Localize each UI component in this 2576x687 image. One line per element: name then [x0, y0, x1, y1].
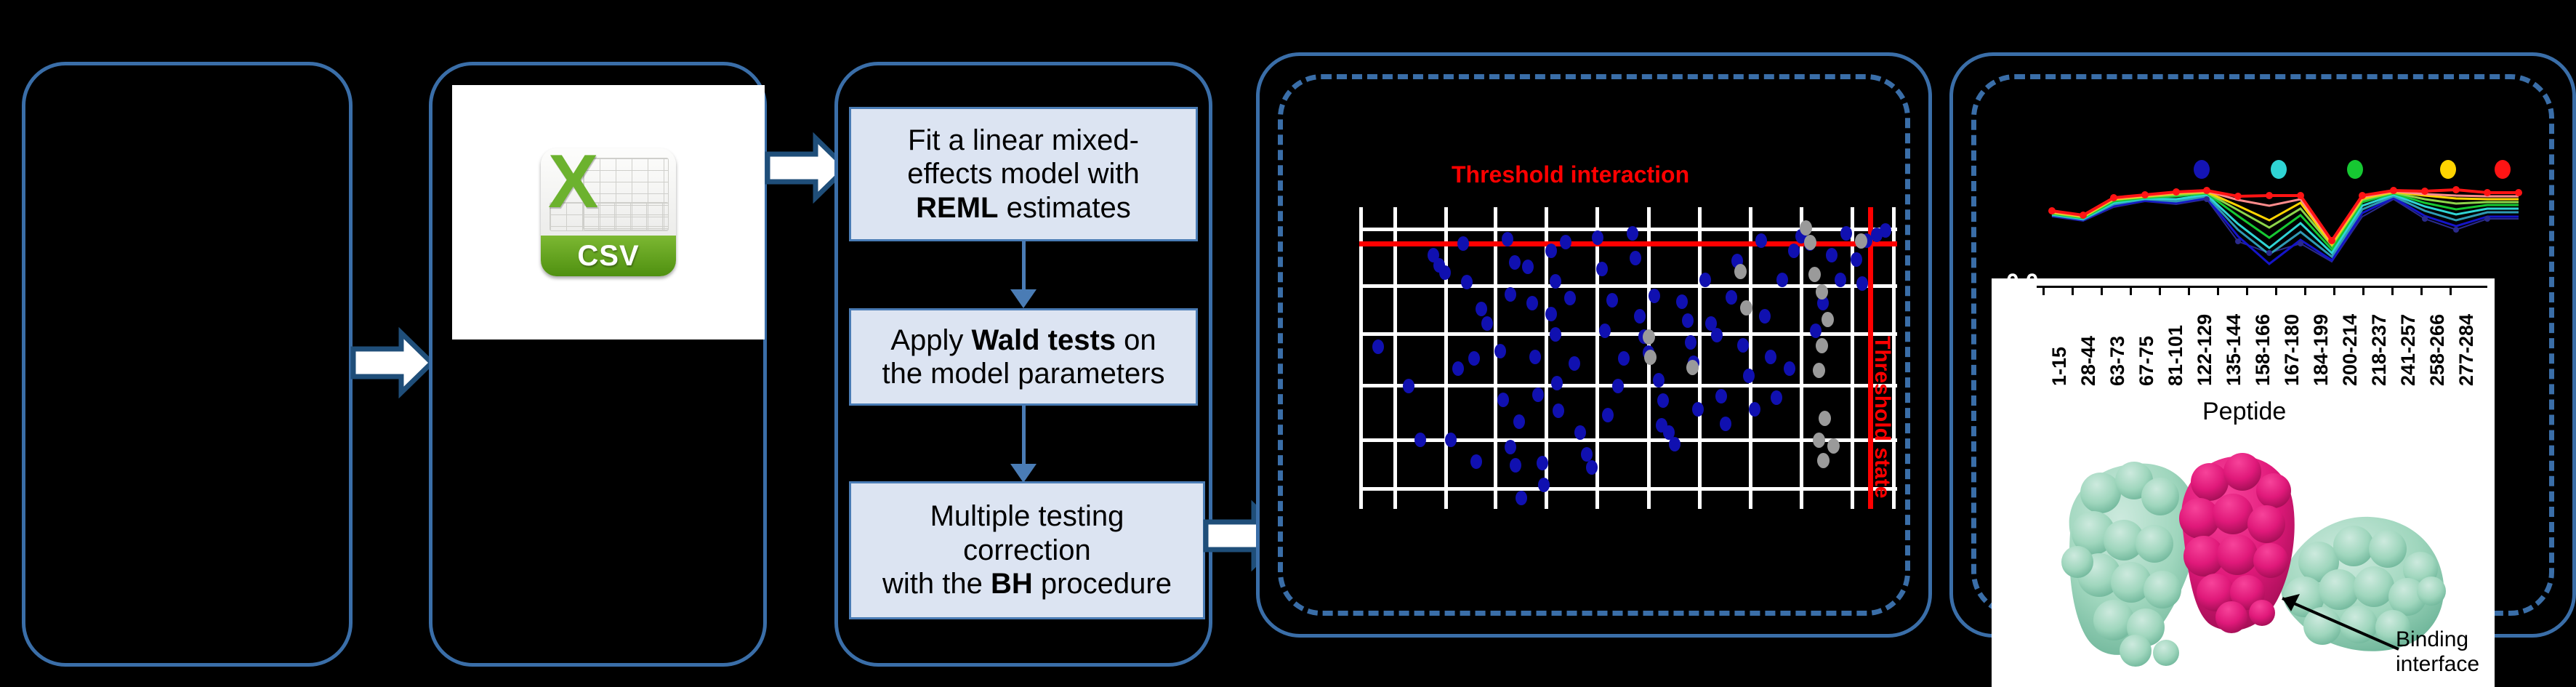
gridline-v — [1749, 207, 1752, 509]
scatter-point — [1720, 417, 1731, 431]
scatter-point — [1586, 460, 1598, 475]
gridline-v — [1444, 207, 1448, 509]
scatter-point-ns — [1816, 338, 1828, 353]
peptide-tick-label: 28-44 — [2077, 336, 2100, 386]
bh-line3-pre: with the — [882, 568, 991, 600]
scatter-point — [1788, 244, 1800, 258]
scatter-point-ns — [1827, 438, 1840, 454]
scatter-point-ns — [1644, 350, 1657, 365]
connector-1 — [1022, 241, 1026, 294]
scatter-point — [1516, 491, 1527, 505]
bh-line2: correction — [963, 534, 1091, 566]
scatter-point-ns — [1819, 411, 1831, 426]
scatter-point — [1468, 351, 1480, 366]
scatter-point — [1685, 335, 1696, 350]
scatter-point — [1606, 293, 1618, 308]
peptide-tick — [2275, 286, 2277, 295]
arrow-input-to-csv — [350, 327, 435, 398]
scatter-point — [1851, 252, 1862, 267]
gridline-v — [1800, 207, 1803, 509]
peptide-tick — [2042, 286, 2045, 295]
scatter-point — [1776, 273, 1788, 287]
protein-surface-render: Peptide — [1992, 395, 2495, 687]
scatter-point — [1550, 327, 1561, 342]
gridline-v — [1698, 207, 1702, 509]
binding-interface-label: Binding interface — [2396, 627, 2479, 676]
peptide-tick — [2362, 286, 2364, 295]
scatter-point — [1699, 273, 1711, 287]
scatter-point — [1538, 478, 1550, 492]
scatter-point — [1657, 393, 1669, 408]
scatter-point — [1784, 361, 1795, 376]
scatter-point — [1497, 393, 1509, 407]
fit-model-line3-rest: estimates — [999, 192, 1131, 224]
fit-model-line2: effects model with — [907, 158, 1139, 190]
peptide-tick — [2420, 286, 2423, 295]
scatter-point-ns — [1816, 284, 1828, 300]
scatter-point — [1737, 338, 1749, 353]
scatter-point — [1765, 350, 1776, 364]
peptide-tick-label: 63-73 — [2106, 336, 2129, 386]
peptide-tick-label: 258-266 — [2426, 314, 2449, 386]
bh-bold: BH — [991, 568, 1033, 600]
scatter-point — [1771, 390, 1782, 405]
scatter-point-ns — [1813, 433, 1825, 448]
input-panel — [22, 62, 353, 667]
scatter-point — [1835, 273, 1846, 287]
bh-line3-post: procedure — [1033, 568, 1172, 600]
step-box-fit-model[interactable]: Fit a linear mixed- effects model with R… — [849, 107, 1198, 241]
peptide-tick — [2159, 286, 2161, 295]
threshold-state-label: Threshold state — [1869, 336, 1894, 498]
scatter-point-ns — [1855, 233, 1867, 249]
scatter-point — [1711, 328, 1723, 342]
volcano-scatter-plot — [1359, 207, 1897, 509]
connector-1-head — [1010, 289, 1037, 308]
fit-model-reml: REML — [916, 192, 998, 224]
scatter-point — [1439, 265, 1451, 280]
legend-marker-4 — [2440, 160, 2456, 179]
binding-interface-line1: Binding — [2396, 627, 2479, 652]
scatter-point-ns — [1740, 300, 1752, 316]
scatter-point — [1612, 379, 1624, 393]
scatter-point — [1596, 262, 1608, 276]
peptide-tick-label: 1-15 — [2048, 347, 2071, 386]
scatter-point — [1545, 307, 1557, 321]
scatter-point — [1692, 402, 1704, 417]
csv-label-band: CSV — [541, 236, 676, 276]
scatter-point-ns — [1822, 312, 1834, 327]
threshold-interaction-line — [1359, 241, 1897, 246]
scatter-point — [1481, 316, 1493, 331]
scatter-point — [1372, 340, 1384, 354]
scatter-point — [1551, 376, 1563, 390]
scatter-point — [1545, 244, 1557, 258]
scatter-point — [1810, 324, 1822, 338]
scatter-point-ns — [1800, 220, 1812, 236]
gridline-h — [1359, 384, 1897, 387]
peptide-tick — [2130, 286, 2132, 295]
scatter-point — [1840, 226, 1852, 241]
peptide-tick — [2450, 286, 2452, 295]
scatter-point-ns — [1686, 360, 1699, 375]
gridline-v — [1359, 207, 1363, 509]
scatter-point — [1509, 255, 1521, 270]
scatter-point — [1529, 350, 1541, 364]
scatter-point — [1550, 274, 1561, 289]
scatter-point — [1505, 440, 1516, 454]
peptide-tick — [2304, 286, 2306, 295]
scatter-point — [1649, 289, 1660, 303]
scatter-point-ns — [1643, 329, 1655, 345]
legend-marker-1 — [2194, 160, 2210, 179]
scatter-point — [1653, 373, 1665, 387]
peptide-tick-label: 277-284 — [2455, 314, 2478, 386]
wald-line1-pre: Apply — [890, 324, 971, 356]
scatter-point — [1630, 251, 1641, 265]
scatter-point — [1749, 402, 1760, 417]
scatter-point — [1634, 309, 1646, 324]
bh-line1: Multiple testing — [930, 500, 1124, 532]
scatter-grid — [1359, 207, 1897, 509]
peptide-tick — [2246, 286, 2248, 295]
wald-line2: the model parameters — [882, 358, 1164, 390]
legend-marker-3 — [2347, 160, 2363, 179]
peptide-tick — [2391, 286, 2394, 295]
peptide-tick — [2072, 286, 2074, 295]
wald-bold: Wald tests — [972, 324, 1116, 356]
scatter-point — [1452, 361, 1464, 376]
legend-marker-5 — [2495, 160, 2511, 179]
scatter-point-ns — [1808, 267, 1821, 282]
scatter-point-ns — [1804, 235, 1816, 250]
legend-marker-2 — [2271, 160, 2287, 179]
scatter-point — [1532, 387, 1544, 402]
peptide-tick — [2101, 286, 2103, 295]
scatter-point — [1743, 369, 1755, 383]
scatter-point — [1592, 230, 1603, 245]
peptide-ligand — [2179, 453, 2295, 633]
scatter-point — [1522, 260, 1534, 274]
scatter-point — [1618, 351, 1630, 366]
peptide-axis-card: 1-15 28-44 63-73 67-75 81-101 122-129 13… — [1992, 278, 2495, 395]
scatter-point — [1669, 437, 1681, 451]
csv-label-text: CSV — [577, 240, 639, 273]
peptide-tick-label: 200-214 — [2339, 314, 2362, 386]
scatter-point — [1502, 232, 1513, 246]
peptide-chart-svg — [2048, 178, 2528, 280]
csv-file-icon: X CSV — [541, 148, 676, 276]
scatter-point — [1581, 447, 1593, 462]
scatter-point — [1880, 223, 1891, 238]
scatter-point — [1569, 356, 1580, 371]
peptide-tick — [2217, 286, 2219, 295]
peptide-tick-label: 184-199 — [2310, 314, 2333, 386]
scatter-point — [1602, 408, 1614, 422]
scatter-point — [1526, 296, 1538, 310]
peptide-tick-label: 167-180 — [2281, 314, 2303, 386]
diagram-canvas: X CSV Fit a linear mixed- effects model … — [0, 0, 2576, 687]
connector-2-head — [1010, 464, 1037, 483]
scatter-point — [1726, 290, 1737, 305]
scatter-point — [1715, 389, 1727, 403]
fit-model-line1: Fit a linear mixed- — [908, 124, 1139, 156]
scatter-point-ns — [1734, 264, 1747, 279]
peptide-tick-label: 218-237 — [2368, 314, 2391, 386]
excel-x-glyph: X — [548, 151, 605, 211]
scatter-point — [1560, 235, 1571, 249]
scatter-point — [1682, 313, 1694, 328]
scatter-point — [1826, 248, 1838, 262]
gridline-v — [1393, 207, 1397, 509]
scatter-point-ns — [1817, 453, 1830, 468]
scatter-point — [1505, 287, 1516, 302]
scatter-point — [1599, 324, 1611, 338]
csv-file-card: X CSV — [452, 85, 765, 340]
threshold-interaction-label: Threshold interaction — [1452, 161, 1689, 188]
peptide-uptake-line-chart — [2048, 178, 2528, 280]
scatter-point — [1513, 414, 1525, 429]
peptide-tick — [2188, 286, 2190, 295]
scatter-point — [1553, 403, 1564, 418]
scatter-point — [1445, 433, 1457, 447]
scatter-point — [1510, 458, 1521, 473]
step-box-bh-correction[interactable]: Multiple testing correction with the BH … — [849, 481, 1205, 619]
scatter-point-ns — [1813, 363, 1825, 378]
scatter-point — [1403, 379, 1414, 393]
scatter-point — [1537, 456, 1548, 470]
scatter-point — [1676, 294, 1688, 309]
peptide-tick-label: 81-101 — [2165, 325, 2187, 386]
scatter-point — [1414, 433, 1426, 447]
gridline-h — [1359, 487, 1897, 491]
scatter-point — [1759, 309, 1771, 324]
peptide-tick-label: 67-75 — [2136, 336, 2158, 386]
peptide-tick — [2333, 286, 2335, 295]
scatter-point — [1856, 276, 1868, 291]
scatter-point — [1461, 275, 1473, 289]
scatter-point — [1476, 302, 1487, 316]
wald-line1-post: on — [1116, 324, 1156, 356]
peptide-tick-label: 122-129 — [2194, 314, 2216, 386]
peptide-tick-label: 135-144 — [2223, 314, 2245, 386]
protein-left-lobe — [2061, 462, 2198, 667]
binding-interface-line2: interface — [2396, 652, 2479, 677]
peptide-tick-label: 241-257 — [2397, 314, 2420, 386]
scatter-point — [1470, 454, 1482, 469]
peptide-tick-label: 158-166 — [2252, 314, 2274, 386]
scatter-point — [1627, 226, 1638, 241]
gridline-v — [1494, 207, 1497, 509]
peptide-axis-line — [2037, 286, 2487, 288]
scatter-point — [1755, 233, 1767, 248]
scatter-point — [1564, 291, 1576, 305]
scatter-point — [1457, 236, 1469, 251]
scatter-point — [1494, 344, 1506, 358]
scatter-point — [1574, 425, 1586, 440]
step-box-wald-tests[interactable]: Apply Wald tests on the model parameters — [849, 308, 1198, 406]
connector-2 — [1022, 406, 1026, 468]
